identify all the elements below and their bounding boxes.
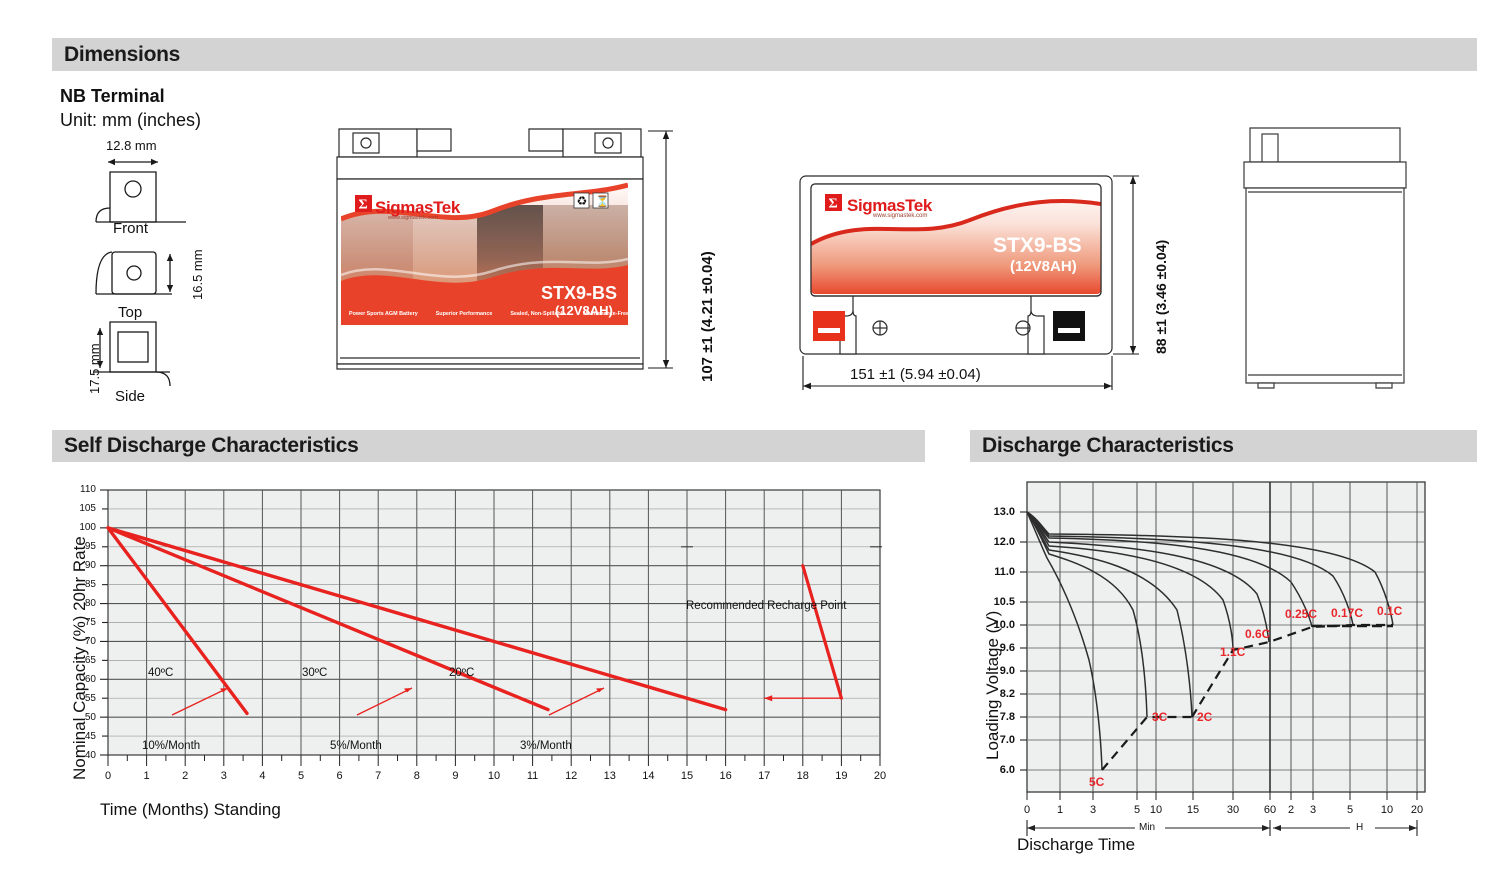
xtick-label: 3	[1303, 804, 1323, 816]
xtick-label: 60	[1260, 804, 1280, 816]
positive-terminal-pad	[813, 311, 845, 341]
curve-label-0-25c: 0.25C	[1285, 607, 1317, 621]
section-title-dimensions: Dimensions	[64, 43, 180, 67]
xtick-label: 13	[600, 770, 620, 782]
crossed-waste-bin-icon: ⏳	[593, 193, 609, 208]
ytick-label: 7.8	[967, 711, 1015, 723]
ytick-label: 110	[52, 484, 96, 495]
xtick-label: 3	[214, 770, 234, 782]
ytick-label: 10.0	[967, 619, 1015, 631]
svg-text:♻: ♻	[577, 194, 588, 208]
ytick-label: 9.6	[967, 642, 1015, 654]
ytick-label: 8.2	[967, 688, 1015, 700]
annotation-3pct-month: 3%/Month	[520, 740, 572, 752]
xtick-label: 11	[523, 770, 543, 782]
battery-end-svg	[1240, 120, 1440, 405]
terminal-sketches: 12.8 mm	[60, 132, 310, 417]
ytick-label: 70	[52, 636, 96, 647]
negative-terminal-pad	[1053, 311, 1085, 341]
ytick-label: 45	[52, 731, 96, 742]
xtick-label: 2	[1281, 804, 1301, 816]
ytick-label: 90	[52, 560, 96, 571]
datasheet-page: Dimensions NB Terminal Unit: mm (inches)…	[0, 0, 1500, 870]
self-discharge-chart: Nominal Capacity (%) 20hr Rate Time (Mon…	[52, 470, 932, 850]
curve-label-3c: 3C	[1152, 710, 1167, 724]
xtick-label: 17	[754, 770, 774, 782]
battery-front-svg: Σ ♻ ⏳	[333, 123, 678, 399]
discharge-chart: Loading Voltage (V) Discharge Time	[965, 470, 1475, 860]
xtick-label: 6	[330, 770, 350, 782]
xtick-label: 15	[1183, 804, 1203, 816]
battery-features-list: Power Sports AGM Battery Superior Perfor…	[349, 311, 629, 317]
self-discharge-xlabel: Time (Months) Standing	[100, 800, 281, 820]
xtick-label: 18	[793, 770, 813, 782]
feature-item: Maintenance-Free	[583, 311, 629, 317]
battery-website-front: www.sigmastek.com	[388, 215, 438, 221]
annotation-30c: 30ºC	[302, 667, 327, 679]
terminal-width-label: 12.8 mm	[106, 138, 157, 153]
xtick-label: 16	[716, 770, 736, 782]
svg-text:⏳: ⏳	[596, 195, 610, 208]
curve-label-0-6c: 0.6C	[1245, 627, 1270, 641]
section-header-dimensions: Dimensions	[52, 38, 1477, 71]
xtick-label: 8	[407, 770, 427, 782]
battery-end-view	[1240, 120, 1440, 405]
ytick-label: 55	[52, 693, 96, 704]
xtick-label: 19	[831, 770, 851, 782]
xtick-label: 20	[1407, 804, 1427, 816]
section-header-self-discharge: Self Discharge Characteristics	[52, 430, 925, 462]
ytick-label: 80	[52, 598, 96, 609]
ytick-label: 50	[52, 712, 96, 723]
ytick-label: 95	[52, 541, 96, 552]
xtick-label: 10	[484, 770, 504, 782]
ytick-label: 100	[52, 522, 96, 533]
xtick-label: 5	[1340, 804, 1360, 816]
curve-label-1-1c: 1.1C	[1220, 645, 1245, 659]
xtick-label: 3	[1083, 804, 1103, 816]
ytick-label: 10.5	[967, 596, 1015, 608]
annotation-20c: 20ºC	[449, 667, 474, 679]
battery-length-dimension: 151 ±1 (5.94 ±0.04)	[850, 366, 981, 383]
xtick-label: 10	[1377, 804, 1397, 816]
xtick-label: 5	[1127, 804, 1147, 816]
annotation-recommended-recharge-point: Recommended Recharge Point	[686, 600, 846, 612]
section-header-discharge: Discharge Characteristics	[970, 430, 1477, 462]
xtick-label: 7	[368, 770, 388, 782]
xtick-label: 0	[1017, 804, 1037, 816]
ytick-label: 75	[52, 617, 96, 628]
battery-website-side: www.sigmastek.com	[873, 213, 927, 219]
xtick-label: 4	[252, 770, 272, 782]
xtick-label: 1	[137, 770, 157, 782]
battery-height-dimension: 107 ±1 (4.21 ±0.04)	[699, 251, 716, 382]
ytick-label: 13.0	[967, 506, 1015, 518]
ytick-label: 105	[52, 503, 96, 514]
battery-model-front: STX9-BS	[541, 283, 617, 304]
annotation-5pct-month: 5%/Month	[330, 740, 382, 752]
section-title-discharge: Discharge Characteristics	[982, 434, 1234, 458]
curve-label-2c: 2C	[1197, 710, 1212, 724]
positive-terminal-icon	[873, 321, 887, 335]
nb-terminal-title: NB Terminal	[60, 86, 165, 107]
ytick-label: 85	[52, 579, 96, 590]
axis-group-label-hour: H	[1356, 822, 1363, 833]
battery-side-height-dimension: 88 ±1 (3.46 ±0.04)	[1153, 240, 1169, 354]
terminal-view-side-label: Side	[115, 388, 145, 405]
ytick-label: 6.0	[967, 764, 1015, 776]
feature-item: Power Sports AGM Battery	[349, 311, 418, 317]
battery-side-view: Σ	[795, 168, 1145, 400]
ytick-label: 60	[52, 674, 96, 685]
feature-item: Superior Performance	[436, 311, 493, 317]
recycle-icon: ♻	[574, 193, 589, 208]
xtick-label: 10	[1146, 804, 1166, 816]
svg-text:Σ: Σ	[359, 198, 368, 213]
ytick-label: 12.0	[967, 536, 1015, 548]
terminal-depth-label: 16.5 mm	[190, 249, 205, 300]
xtick-label: 5	[291, 770, 311, 782]
ytick-label: 7.0	[967, 734, 1015, 746]
ytick-label: 40	[52, 750, 96, 761]
curve-label-0-17c: 0.17C	[1331, 606, 1363, 620]
svg-text:Σ: Σ	[829, 197, 838, 212]
xtick-label: 12	[561, 770, 581, 782]
annotation-10pct-month: 10%/Month	[142, 740, 200, 752]
xtick-label: 30	[1223, 804, 1243, 816]
unit-label: Unit: mm (inches)	[60, 110, 201, 131]
terminal-view-top-label: Top	[118, 304, 142, 321]
ytick-label: 65	[52, 655, 96, 666]
section-title-self-discharge: Self Discharge Characteristics	[64, 434, 358, 458]
xtick-label: 2	[175, 770, 195, 782]
xtick-label: 14	[638, 770, 658, 782]
battery-front-view: Σ ♻ ⏳ SigmasTek www.sigmastek.com STX9-B…	[333, 123, 678, 399]
xtick-label: 9	[445, 770, 465, 782]
xtick-label: 0	[98, 770, 118, 782]
xtick-label: 15	[677, 770, 697, 782]
ytick-label: 9.0	[967, 665, 1015, 677]
ytick-label: 11.0	[967, 566, 1015, 578]
xtick-label: 1	[1050, 804, 1070, 816]
battery-model-side: STX9-BS	[993, 234, 1082, 258]
xtick-label: 20	[870, 770, 890, 782]
battery-rating-side: (12V8AH)	[1010, 258, 1077, 275]
curve-label-0-1c: 0.1C	[1377, 604, 1402, 618]
curve-label-5c: 5C	[1089, 775, 1104, 789]
terminal-view-front-label: Front	[113, 220, 148, 237]
feature-item: Sealed, Non-Spillable	[510, 311, 565, 317]
annotation-40c: 40ºC	[148, 667, 173, 679]
axis-group-label-min: Min	[1139, 822, 1155, 833]
terminal-height-label: 17.5 mm	[87, 343, 102, 394]
axis-group-brackets	[965, 818, 1475, 848]
